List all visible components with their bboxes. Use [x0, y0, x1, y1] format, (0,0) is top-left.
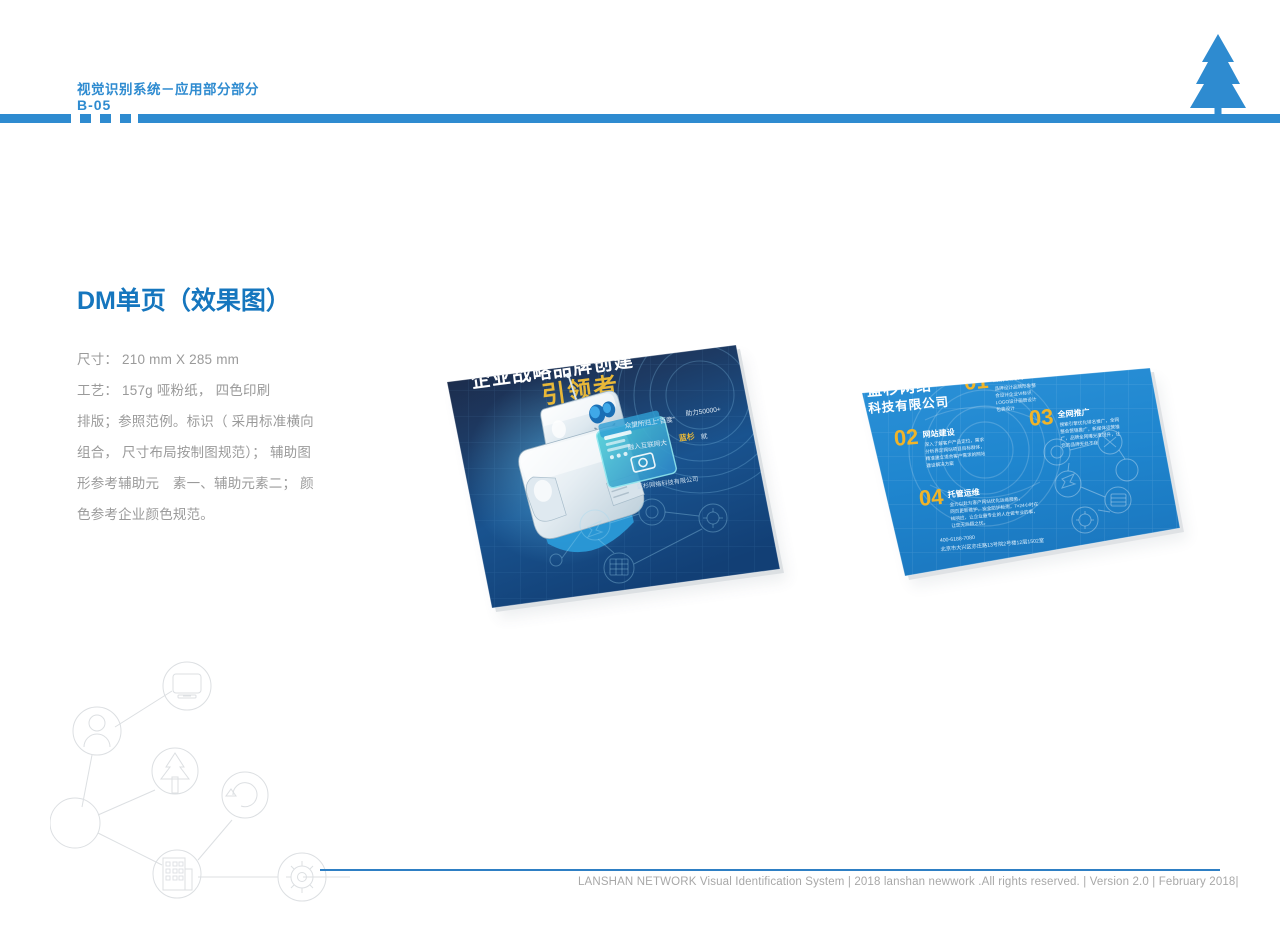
- header-rule-dash-1: [80, 114, 91, 123]
- right-flyer-contact: 400-6188-7080 北京市大兴区亦庄路13号院2号楼12层1502室: [940, 529, 1045, 553]
- svg-text:04: 04: [918, 484, 945, 511]
- svg-text:线响应，让企业最专业的人在做专业的事，: 线响应，让企业最专业的人在做专业的事，: [951, 508, 1039, 523]
- svg-text:建设解决方案: 建设解决方案: [926, 460, 954, 469]
- svg-text:助力50000+: 助力50000+: [685, 404, 721, 418]
- blank-circle: [50, 798, 100, 848]
- spec-line-process: 工艺： 157g 哑粉纸， 四色印刷: [77, 375, 320, 406]
- svg-text:03: 03: [1028, 404, 1055, 431]
- svg-text:融入互联网大: 融入互联网大: [627, 438, 668, 452]
- svg-text:蓝杉: 蓝杉: [678, 431, 695, 443]
- left-flyer-headline: 企业战略品牌创建: [469, 348, 636, 393]
- spec-line-size: 尺寸： 210 mm X 285 mm: [77, 344, 320, 375]
- right-flyer-company: 蓝杉网络 科技有限公司: [866, 375, 950, 416]
- svg-text:全网推广: 全网推广: [1056, 407, 1090, 420]
- svg-text:02: 02: [893, 424, 920, 451]
- header-rule-stub: [0, 114, 71, 123]
- header-page-code: B-05: [77, 97, 111, 113]
- dm-flyer-right-mockup: 蓝杉网络 科技有限公司 01 品牌设计 品牌设计品牌形象整 合设计企业VI标识 …: [855, 360, 1195, 590]
- page-title: DM单页（效果图）: [77, 281, 291, 317]
- footer-copyright: LANSHAN NETWORK Visual Identification Sy…: [578, 876, 1239, 888]
- monitor-icon: [163, 662, 211, 710]
- svg-text:全力以赴为客户网站优化运维服务，: 全力以赴为客户网站优化运维服务，: [949, 495, 1023, 508]
- svg-text:科技有限公司: 科技有限公司: [868, 394, 950, 416]
- dm-flyer-left-mockup: 企业战略品牌创建 引领者: [440, 297, 798, 620]
- svg-text:01: 01: [963, 368, 990, 395]
- svg-text:网页更新维护，安全防护检测，7×24小时在: 网页更新维护，安全防护检测，7×24小时在: [950, 501, 1039, 516]
- svg-text:您的品牌无处不在: 您的品牌无处不在: [1061, 439, 1099, 449]
- svg-text:深入了解客户产品定位，需求: 深入了解客户产品定位，需求: [924, 436, 985, 448]
- spec-line-layout: 排版；参照范例。标识（ 采用标准横向组合， 尺寸布局按制图规范）； 辅助图形参考…: [77, 406, 320, 530]
- right-flyer-item-04: 04 托管运维 全力以赴为客户网站优化运维服务， 网页更新维护，安全防护检测，7…: [918, 476, 1040, 532]
- left-flyer-headline-accent: 引领者: [540, 372, 621, 410]
- building-icon: [153, 850, 201, 898]
- svg-text:LOGO设计画册设计: LOGO设计画册设计: [996, 396, 1038, 407]
- svg-text:精准建立适合客户需求的网站: 精准建立适合客户需求的网站: [926, 450, 987, 462]
- svg-text:400-6188-7080: 400-6188-7080: [940, 535, 976, 544]
- svg-text:就: 就: [700, 431, 708, 441]
- header-rule-dash-2: [100, 114, 111, 123]
- svg-text:蓝杉网络科技有限公司: 蓝杉网络科技有限公司: [636, 475, 698, 491]
- svg-text:品牌设计: 品牌设计: [992, 371, 1025, 384]
- page-header: 视觉识别系统－应用部分部分 B-05: [0, 0, 1280, 135]
- svg-text:整合营销推广，新媒体运营推: 整合营销推广，新媒体运营推: [1060, 423, 1121, 435]
- left-flyer-subtext: 众望所归上“百度” 助力50000+ 融入互联网大 蓝杉 就 蓝杉网络科技有限公…: [624, 404, 731, 491]
- spec-list: 尺寸： 210 mm X 285 mm 工艺： 157g 哑粉纸， 四色印刷 排…: [77, 344, 320, 530]
- right-flyer-item-01: 01 品牌设计 品牌设计品牌形象整 合设计企业VI标识 LOGO设计画册设计 包…: [963, 364, 1038, 416]
- header-section-title: 视觉识别系统－应用部分部分: [77, 78, 259, 98]
- decorative-network-graphic: [50, 655, 350, 905]
- footer-rule: [320, 869, 1220, 871]
- svg-text:蓝杉网络: 蓝杉网络: [866, 376, 933, 400]
- right-flyer-item-03: 03 全网推广 搜索引擎优化排名推广，全网 整合营销推广，新媒体运营推 广，品牌…: [1028, 398, 1122, 452]
- right-flyer-item-02: 02 网站建设 深入了解客户产品定位，需求 分析界定网站项目目标群体， 精准建立…: [893, 418, 987, 472]
- svg-text:网站建设: 网站建设: [922, 427, 955, 440]
- svg-text:包装设计: 包装设计: [996, 405, 1015, 414]
- header-rule: [138, 114, 1280, 123]
- svg-text:让您无后顾之忧。: 让您无后顾之忧。: [951, 519, 988, 529]
- svg-text:品牌设计品牌形象整: 品牌设计品牌形象整: [994, 382, 1036, 393]
- svg-text:分析界定网站项目目标群体，: 分析界定网站项目目标群体，: [925, 443, 985, 455]
- pine-tree-logo-icon: [1182, 32, 1254, 122]
- svg-text:北京市大兴区亦庄路13号院2号楼12层1502室: 北京市大兴区亦庄路13号院2号楼12层1502室: [940, 536, 1044, 553]
- svg-text:托管运维: 托管运维: [947, 487, 980, 500]
- header-rule-dash-3: [120, 114, 131, 123]
- svg-text:广，品牌全网曝光度提升，让: 广，品牌全网曝光度提升，让: [1061, 430, 1122, 442]
- pine-tree-icon: [152, 748, 198, 794]
- robot-illustration: [508, 360, 686, 559]
- svg-text:合设计企业VI标识: 合设计企业VI标识: [995, 389, 1032, 399]
- svg-text:搜索引擎优化排名推广，全网: 搜索引擎优化排名推广，全网: [1059, 416, 1120, 428]
- refresh-icon: [222, 772, 268, 818]
- svg-text:众望所归上“百度”: 众望所归上“百度”: [624, 414, 675, 430]
